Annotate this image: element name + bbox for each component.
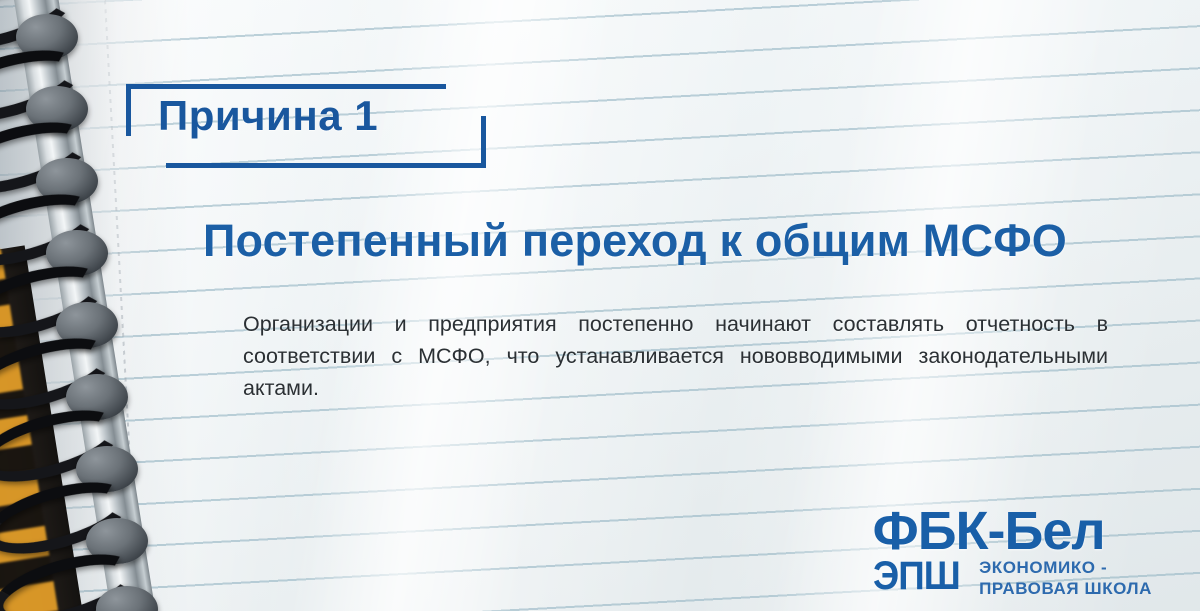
badge-label: Причина 1 <box>158 92 378 140</box>
logo-secondary-row: ЭПШ ЭКОНОМИКО - ПРАВОВАЯ ШКОЛА <box>873 556 1152 599</box>
logo-name: ФБК-Бел <box>873 502 1152 560</box>
body-paragraph: Организации и предприятия постепенно нач… <box>243 308 1108 404</box>
logo-abbreviation: ЭПШ <box>873 556 960 596</box>
slide: Причина 1 Постепенный переход к общим МС… <box>0 0 1200 611</box>
page-title: Постепенный переход к общим МСФО <box>120 215 1150 267</box>
logo-subtitle: ЭКОНОМИКО - ПРАВОВАЯ ШКОЛА <box>979 556 1152 599</box>
company-logo: ФБК-Бел ЭПШ ЭКОНОМИКО - ПРАВОВАЯ ШКОЛА <box>873 502 1152 599</box>
slide-content: Причина 1 Постепенный переход к общим МС… <box>0 0 1200 611</box>
section-badge: Причина 1 <box>126 84 486 168</box>
